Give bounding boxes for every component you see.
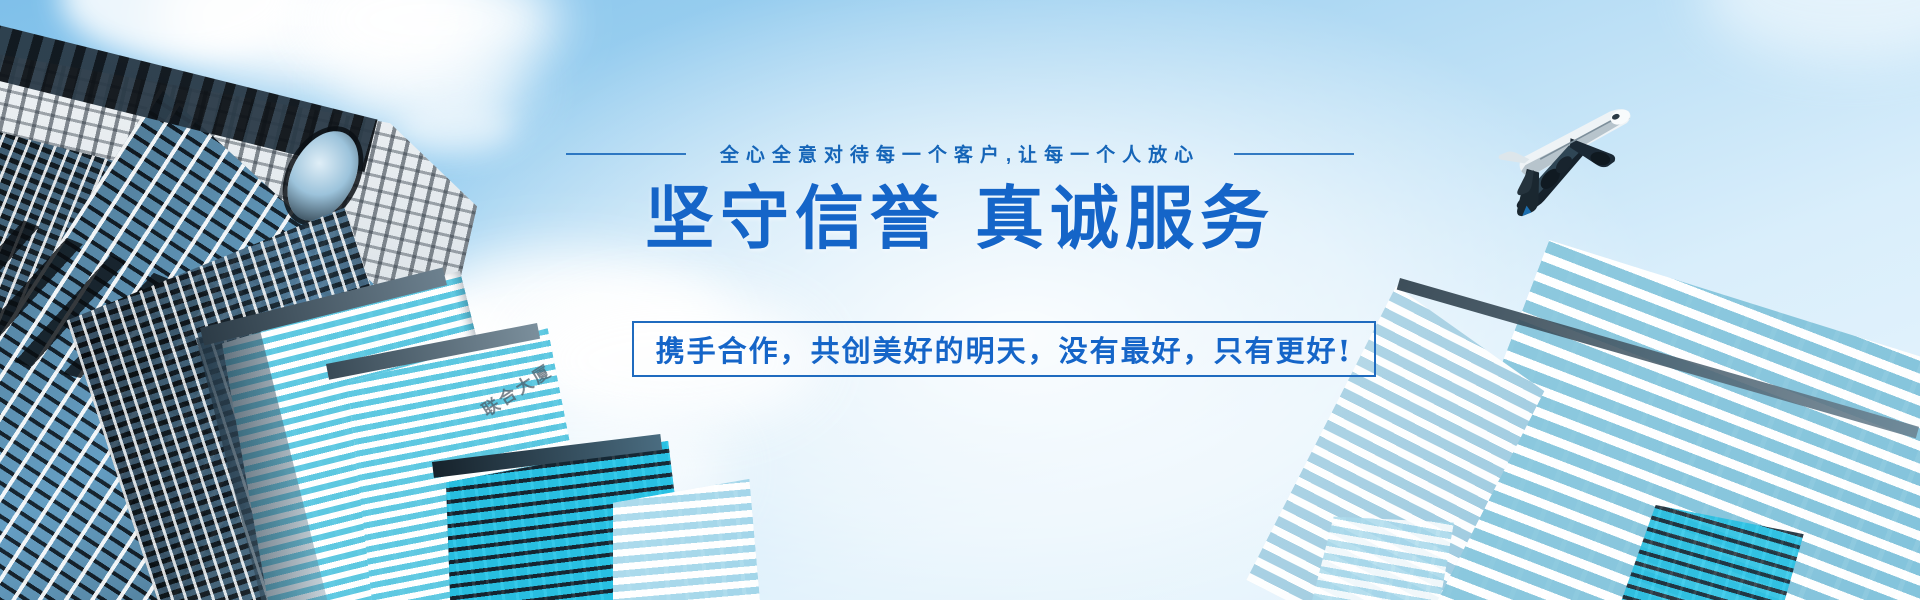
banner-text-block: 全心全意对待每一个客户,让每一个人放心 坚守信誉 真诚服务 携手合作，共创美好的… [0, 0, 1920, 600]
hero-banner: 联合大厦 [0, 0, 1920, 600]
tagline-text: 全心全意对待每一个客户,让每一个人放心 [720, 140, 1200, 167]
subtitle-box: 携手合作，共创美好的明天，没有最好，只有更好! [632, 321, 1376, 377]
subtitle-text: 携手合作，共创美好的明天，没有最好，只有更好! [656, 328, 1353, 370]
tagline-row: 全心全意对待每一个客户,让每一个人放心 [0, 140, 1920, 167]
tagline-rule-right [1234, 153, 1354, 155]
headline-text: 坚守信誉 真诚服务 [0, 178, 1920, 259]
tagline-rule-left [566, 153, 686, 155]
